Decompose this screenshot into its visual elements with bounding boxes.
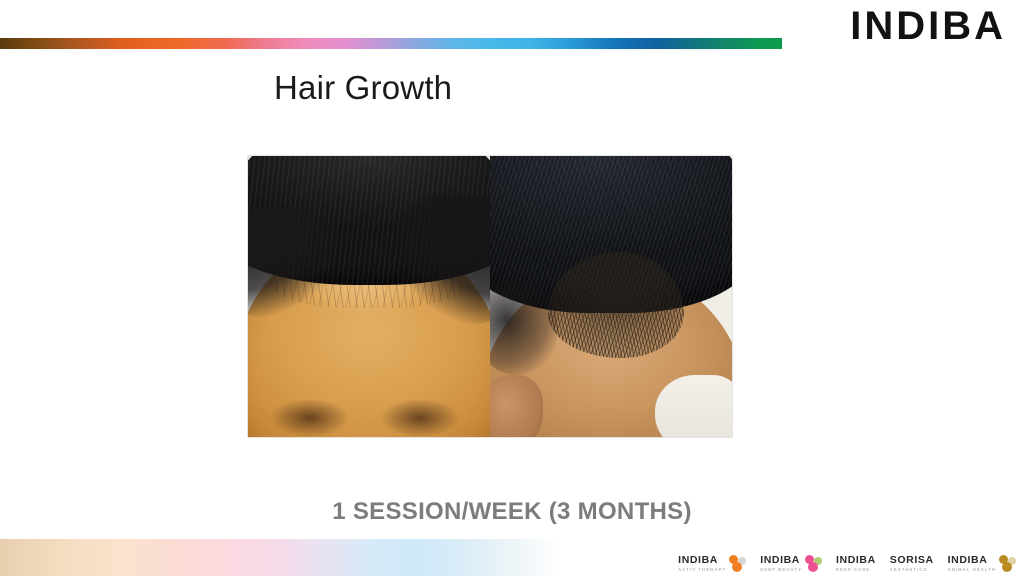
- brand-logo-tag: DEEP BEAUTY: [760, 568, 802, 572]
- bottom-gradient-bar: [0, 539, 560, 576]
- brand-logo-row: INDIBA ACTIV THERAPY INDIBA DEEP BEAUTY …: [678, 555, 1016, 572]
- before-eyebrows: [263, 400, 476, 437]
- brand-logo-tag: ACTIV THERAPY: [678, 568, 726, 572]
- brand-logo-text: INDIBA ACTIV THERAPY: [678, 555, 726, 572]
- after-background: [655, 375, 732, 437]
- session-caption: 1 SESSION/WEEK (3 MONTHS): [0, 498, 1024, 526]
- brand-logo-tag: ANIMAL HEALTH: [948, 568, 996, 572]
- after-photo: [490, 156, 732, 437]
- brand-logo-tag: AESTHETICS: [890, 568, 934, 572]
- brand-logo-tag: DEEP CARE: [836, 568, 876, 572]
- brand-logo-text: INDIBA DEEP CARE: [836, 555, 876, 572]
- brand-logo-name: INDIBA: [760, 555, 802, 566]
- brand-logo-text: SORISA AESTHETICS: [890, 555, 934, 572]
- before-photo: [248, 156, 490, 437]
- brand-logo-name: SORISA: [890, 555, 934, 566]
- brand-logo-name: INDIBA: [948, 555, 996, 566]
- after-ear: [490, 375, 543, 437]
- top-gradient-bar: [0, 38, 782, 49]
- brand-logo-text: INDIBA DEEP BEAUTY: [760, 555, 802, 572]
- brand-logo-indiba-deep-beauty: INDIBA DEEP BEAUTY: [760, 555, 822, 572]
- brand-logo-indiba-animal-health: INDIBA ANIMAL HEALTH: [948, 555, 1016, 572]
- brand-logo-text: INDIBA ANIMAL HEALTH: [948, 555, 996, 572]
- indiba-logo-wordmark: INDIBA: [850, 6, 1006, 46]
- brand-logo-name: INDIBA: [836, 555, 876, 566]
- brand-logo-name: INDIBA: [678, 555, 726, 566]
- indiba-circles-icon: [805, 555, 822, 572]
- before-after-photo-pair: [248, 156, 732, 437]
- indiba-circles-icon: [729, 555, 746, 572]
- brand-logo-indiba-activ: INDIBA ACTIV THERAPY: [678, 555, 746, 572]
- brand-logo-indiba-deep-care: INDIBA DEEP CARE: [836, 555, 876, 572]
- brand-logo-sorisa: SORISA AESTHETICS: [890, 555, 934, 572]
- page-title: Hair Growth: [274, 69, 452, 107]
- indiba-circles-icon: [999, 555, 1016, 572]
